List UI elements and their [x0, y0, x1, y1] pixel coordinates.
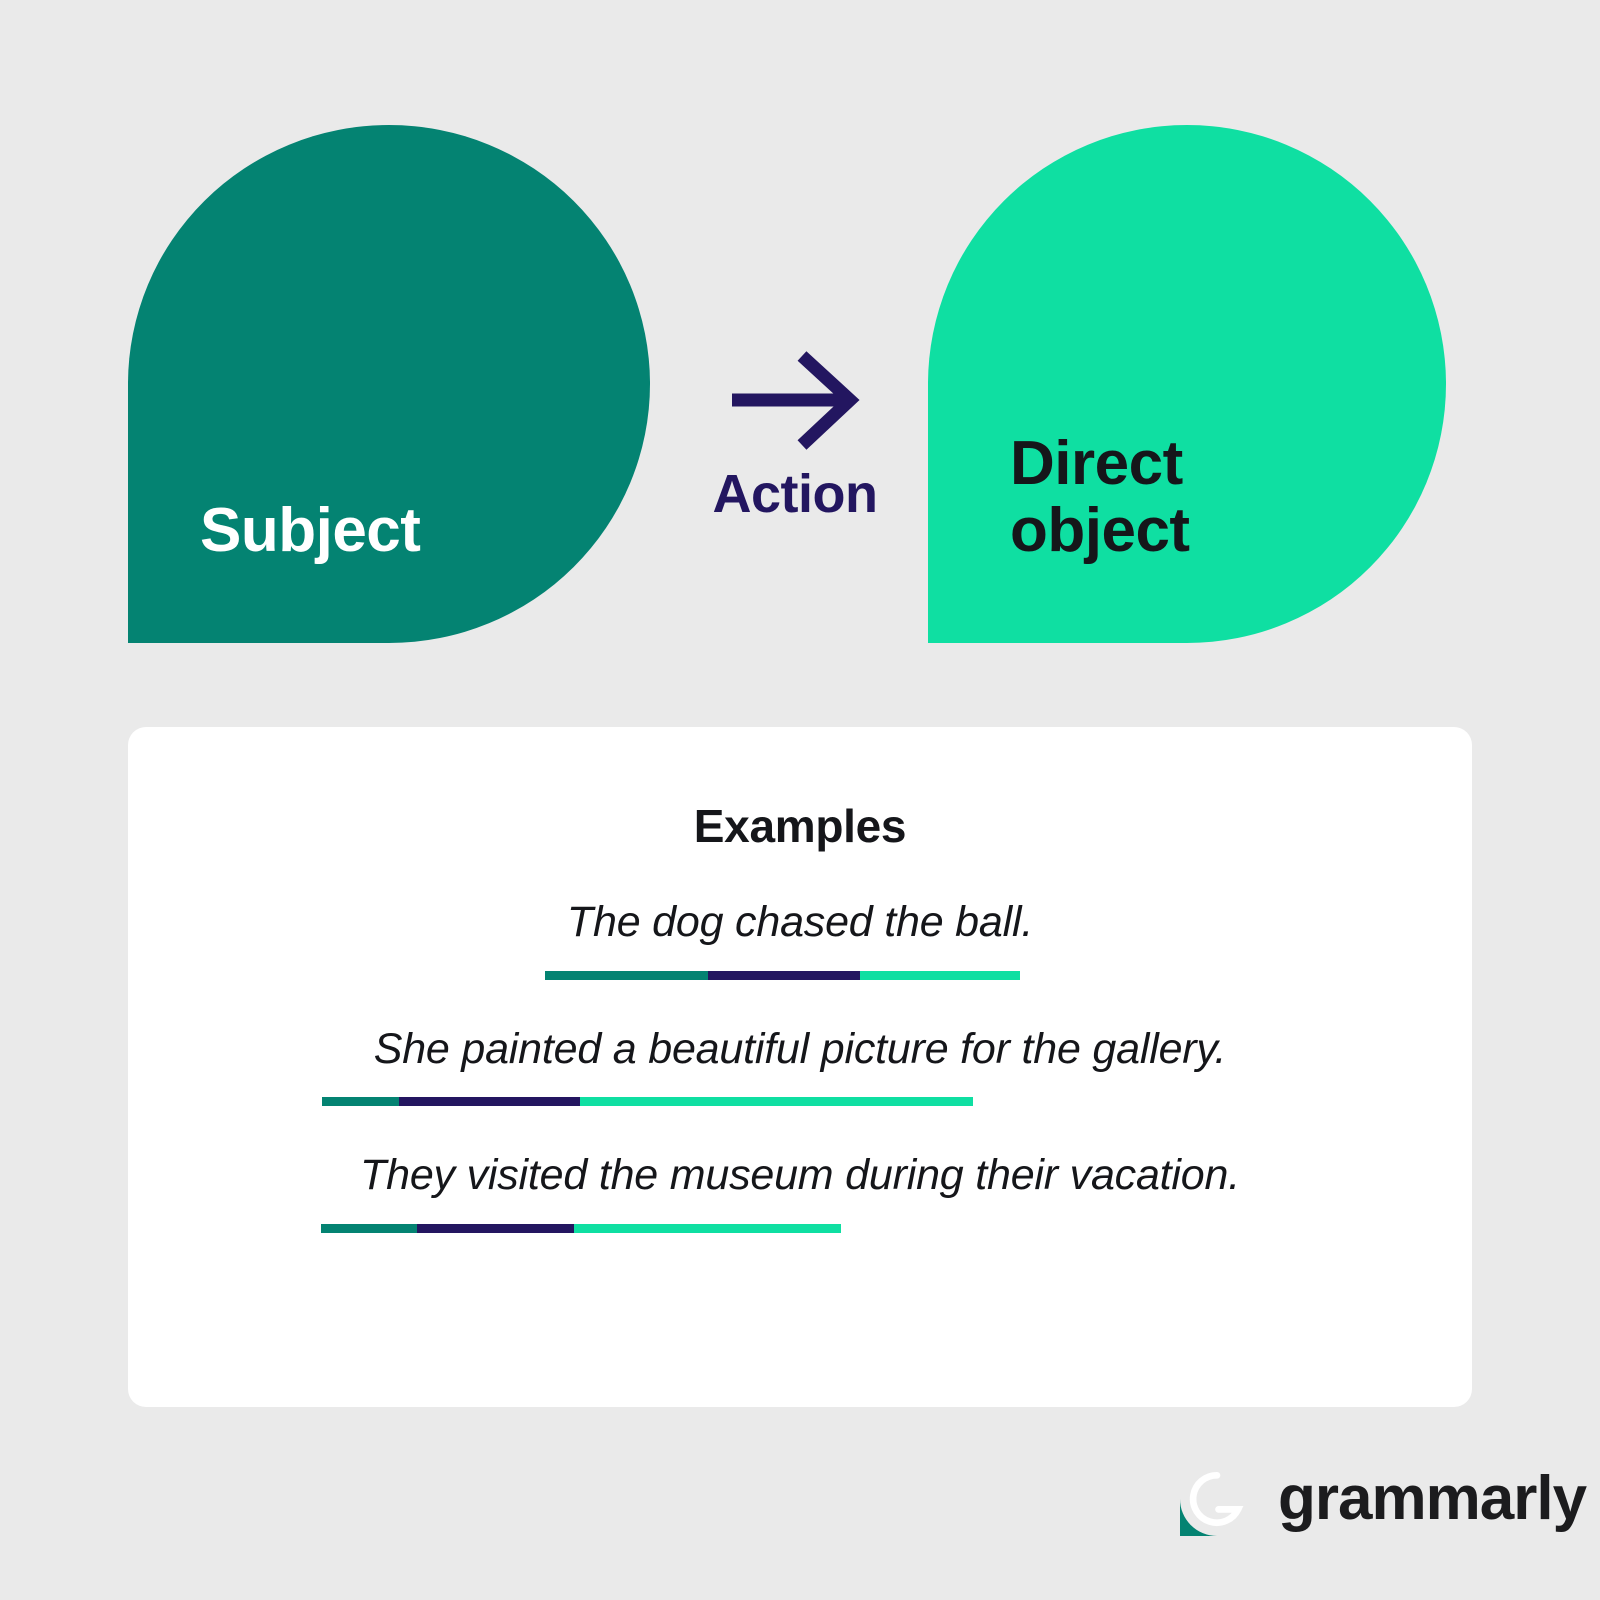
- sentence-structure-diagram: Subject Action Direct object: [0, 0, 1600, 700]
- example-row: They visited the museum during their vac…: [128, 1150, 1472, 1233]
- example-parts-bar: [322, 1097, 973, 1106]
- action-label: Action: [713, 467, 878, 521]
- subject-bubble: Subject: [128, 125, 650, 643]
- example-parts-bar: [545, 971, 1020, 980]
- bar-segment-action: [399, 1097, 580, 1106]
- examples-list: The dog chased the ball.She painted a be…: [128, 897, 1472, 1277]
- grammarly-g-icon: [1180, 1462, 1254, 1536]
- grammarly-wordmark: grammarly: [1278, 1468, 1586, 1530]
- arrow-right-icon: [730, 348, 860, 453]
- bar-segment-object: [574, 1224, 841, 1233]
- bar-segment-object: [580, 1097, 973, 1106]
- bar-segment-subject: [321, 1224, 417, 1233]
- action-group: Action: [650, 340, 940, 570]
- example-sentence: They visited the museum during their vac…: [128, 1150, 1472, 1202]
- bar-segment-action: [708, 971, 860, 980]
- direct-object-bubble-label: Direct object: [928, 431, 1190, 643]
- subject-bubble-label: Subject: [128, 498, 420, 643]
- bar-segment-subject: [545, 971, 708, 980]
- direct-object-bubble: Direct object: [928, 125, 1446, 643]
- bar-segment-action: [417, 1224, 574, 1233]
- example-sentence: She painted a beautiful picture for the …: [128, 1024, 1472, 1076]
- bar-segment-object: [860, 971, 1020, 980]
- examples-title: Examples: [128, 799, 1472, 853]
- example-parts-bar: [321, 1224, 841, 1233]
- example-row: The dog chased the ball.: [128, 897, 1472, 980]
- example-row: She painted a beautiful picture for the …: [128, 1024, 1472, 1107]
- bar-segment-subject: [322, 1097, 399, 1106]
- grammarly-logo: grammarly: [1180, 1462, 1586, 1536]
- examples-card: Examples The dog chased the ball.She pai…: [128, 727, 1472, 1407]
- example-sentence: The dog chased the ball.: [128, 897, 1472, 949]
